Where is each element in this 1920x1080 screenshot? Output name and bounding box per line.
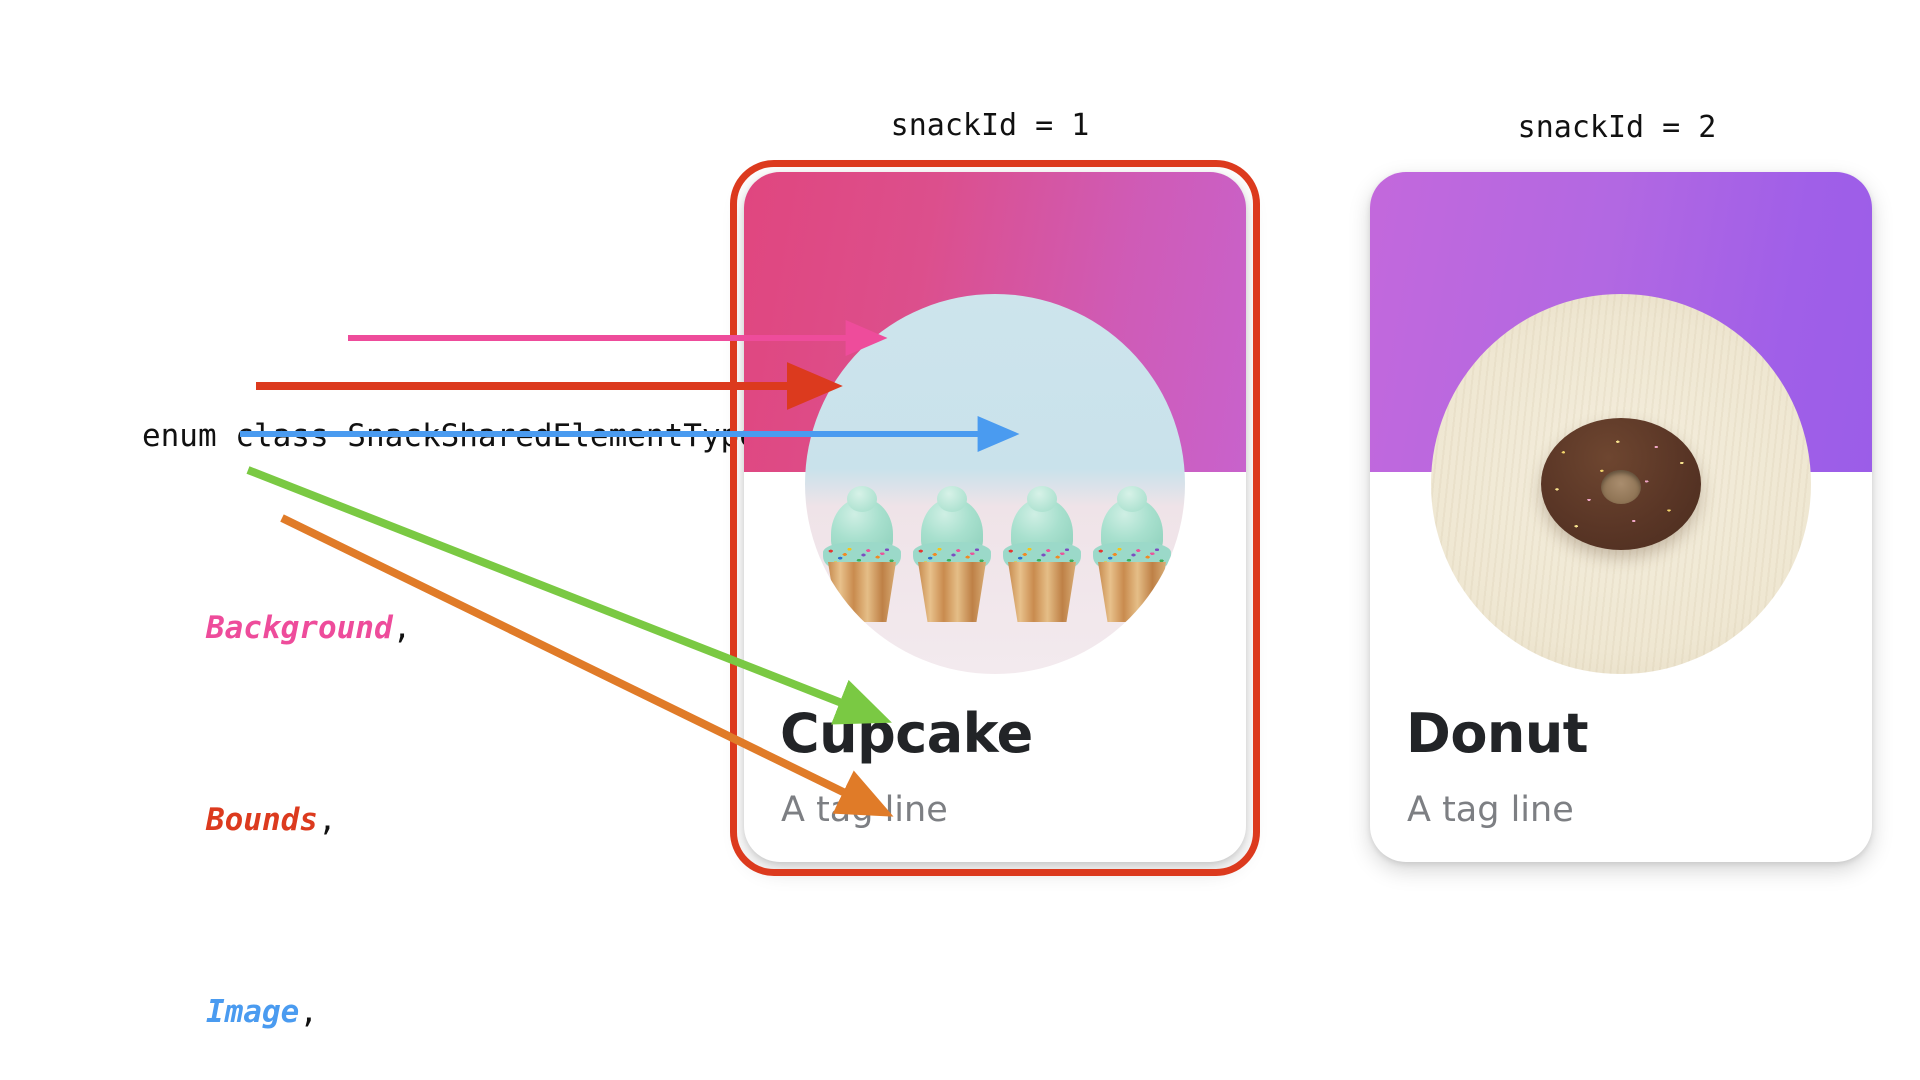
card-tagline-donut: A tag line [1407,790,1574,830]
diagram-canvas: enum class SnackSharedElementType { Back… [0,0,1920,1080]
card-image-circle-cupcake [805,294,1185,674]
code-line-bounds: Bounds, [30,748,795,796]
donut-body [1541,418,1701,550]
snack-card-donut[interactable]: Donut A tag line [1370,172,1872,862]
cupcake-photo [805,294,1185,674]
enum-member-bounds: Bounds [206,802,318,838]
comma-image: , [299,994,318,1030]
snack-id-label-1: snackId = 1 [891,108,1090,143]
cupcake-item [999,490,1085,622]
code-header-text: enum class SnackSharedElementType { [142,418,795,454]
enum-member-image: Image [206,994,299,1030]
donut-hole [1601,470,1641,504]
cupcake-item [1089,490,1175,622]
card-title-cupcake: Cupcake [780,702,1033,765]
card-title-donut: Donut [1406,702,1588,765]
card-image-circle-donut [1431,294,1811,674]
enum-member-background: Background [206,610,393,646]
cupcake-item [819,490,905,622]
cupcakes-row [805,472,1185,622]
comma-bounds: , [318,802,337,838]
code-line-header: enum class SnackSharedElementType { [30,364,795,412]
code-line-image: Image, [30,940,795,988]
comma-background: , [393,610,412,646]
snack-card-cupcake[interactable]: Cupcake A tag line [744,172,1246,862]
code-line-background: Background, [30,556,795,604]
donut-photo [1431,294,1811,674]
snack-id-label-2: snackId = 2 [1518,110,1717,145]
card-tagline-cupcake: A tag line [781,790,948,830]
code-snippet: enum class SnackSharedElementType { Back… [30,268,795,1080]
cupcake-item [909,490,995,622]
